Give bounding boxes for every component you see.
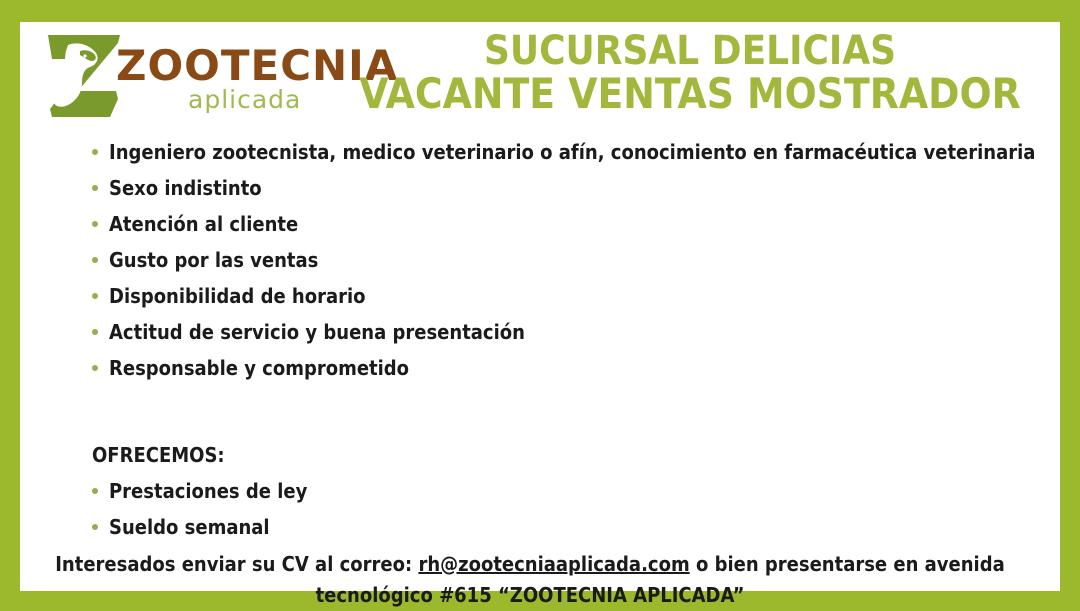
requirement-text: Gusto por las ventas: [109, 246, 318, 274]
bullet-dot-icon: [92, 488, 98, 494]
company-logo: ZOOTECNIA aplicada: [38, 27, 330, 125]
contact-line-1: Interesados enviar su CV al correo: rh@z…: [50, 549, 1010, 580]
headline-position-line: VACANTE VENTAS MOSTRADOR: [320, 72, 1060, 117]
list-item: Ingeniero zootecnista, medico veterinari…: [92, 138, 1042, 174]
offers-heading: OFRECEMOS:: [92, 442, 792, 468]
requirement-text: Sexo indistinto: [109, 174, 262, 202]
requirement-text: Ingeniero zootecnista, medico veterinari…: [109, 138, 1035, 166]
logo-subtitle: aplicada: [188, 87, 301, 112]
bullet-dot-icon: [92, 221, 98, 227]
list-item: Disponibilidad de horario: [92, 282, 1042, 318]
offer-text: Sueldo semanal: [109, 513, 270, 541]
bullet-dot-icon: [92, 365, 98, 371]
requirement-text: Responsable y comprometido: [109, 354, 409, 382]
contact-footer: Interesados enviar su CV al correo: rh@z…: [50, 549, 1010, 611]
contact-prefix-text: Interesados enviar su CV al correo:: [55, 552, 418, 576]
contact-email-link[interactable]: rh@zootecniaaplicada.com: [418, 552, 689, 576]
list-item: Responsable y comprometido: [92, 354, 1042, 390]
headline-branch-line: SUCURSAL DELICIAS: [320, 30, 1060, 72]
requirement-text: Actitud de servicio y buena presentación: [109, 318, 525, 346]
bullet-dot-icon: [92, 149, 98, 155]
requirements-list: Ingeniero zootecnista, medico veterinari…: [92, 138, 1042, 390]
bullet-dot-icon: [92, 293, 98, 299]
list-item: Sueldo semanal: [92, 513, 792, 549]
bullet-dot-icon: [92, 329, 98, 335]
list-item: Prestaciones de ley: [92, 477, 792, 513]
offer-text: Prestaciones de ley: [109, 477, 307, 505]
list-item: Gusto por las ventas: [92, 246, 1042, 282]
bullet-dot-icon: [92, 185, 98, 191]
contact-line-2: tecnológico #615 “ZOOTECNIA APLICADA”: [50, 580, 1010, 611]
contact-suffix-text: o bien presentarse en avenida: [690, 552, 1005, 576]
page-title: SUCURSAL DELICIAS VACANTE VENTAS MOSTRAD…: [320, 30, 1060, 117]
bullet-dot-icon: [92, 257, 98, 263]
requirement-text: Atención al cliente: [109, 210, 298, 238]
list-item: Actitud de servicio y buena presentación: [92, 318, 1042, 354]
poster-inner-white-area: ZOOTECNIA aplicada SUCURSAL DELICIAS VAC…: [20, 22, 1060, 591]
job-posting-poster: ZOOTECNIA aplicada SUCURSAL DELICIAS VAC…: [0, 0, 1080, 611]
list-item: Sexo indistinto: [92, 174, 1042, 210]
list-item: Atención al cliente: [92, 210, 1042, 246]
bullet-dot-icon: [92, 524, 98, 530]
requirement-text: Disponibilidad de horario: [109, 282, 366, 310]
poster-header: ZOOTECNIA aplicada SUCURSAL DELICIAS VAC…: [20, 22, 1060, 130]
offers-section: OFRECEMOS: Prestaciones de ley Sueldo se…: [92, 442, 792, 549]
